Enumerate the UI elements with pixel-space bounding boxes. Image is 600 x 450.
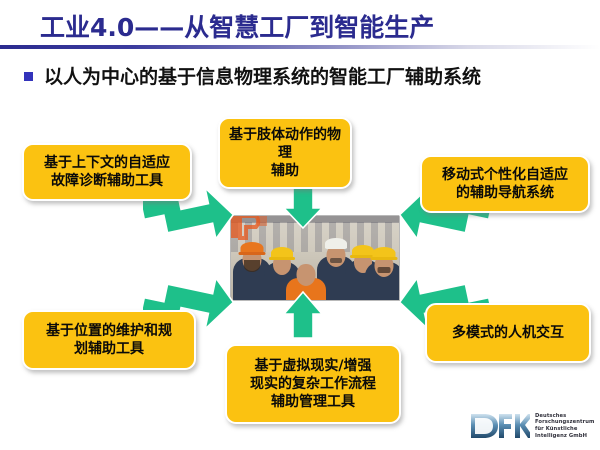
box-vr-ar-workflow-management[interactable]: 基于虚拟现实/增强 现实的复杂工作流程 辅助管理工具 [225,344,401,424]
box-nav-line-2: 的辅助导航系统 [442,184,568,202]
worker-figure [365,246,400,301]
box-location-line-1: 基于位置的维护和规 [46,322,172,340]
dfki-logo: Deutsches Forschungszentrum für Künstlic… [470,408,595,444]
box-gesture-line-2: 辅助 [226,162,344,180]
bullet-square-icon [24,72,33,81]
bullet-text: 以人为中心的基于信息物理系统的智能工厂辅助系统 [44,62,481,89]
dfki-line-1: Deutsches [535,413,595,420]
page-title: 工业4.0——从智慧工厂到智能生产 [40,8,560,44]
dfki-line-4: Intelligenz GmbH [535,433,595,440]
box-vr-line-2: 现实的复杂工作流程 [250,375,376,393]
bullet-row: 以人为中心的基于信息物理系统的智能工厂辅助系统 [24,62,594,89]
arrow-up-icon [282,290,324,340]
box-vr-line-1: 基于虚拟现实/增强 [250,357,376,375]
photo-watermark-icon [230,215,273,241]
box-vr-line-3: 辅助管理工具 [250,393,376,411]
title-divider [0,45,600,49]
dfki-wordmark-text: Deutsches Forschungszentrum für Künstlic… [535,413,595,440]
box-nav-line-1: 移动式个性化自适应 [442,166,568,184]
box-hmi-line-1: 多模式的人机交互 [452,324,564,342]
arrow-down-icon [282,184,324,230]
slide-canvas: 工业4.0——从智慧工厂到智能生产 以人为中心的基于信息物理系统的智能工厂辅助系… [0,0,600,450]
box-gesture-physical-assistance[interactable]: 基于肢体动作的物理 辅助 [218,117,352,189]
dfki-mark-icon [470,412,530,440]
box-context-adaptive-fault-diagnosis[interactable]: 基于上下文的自适应 故障诊断辅助工具 [22,143,192,201]
box-mobile-adaptive-navigation[interactable]: 移动式个性化自适应 的辅助导航系统 [420,155,590,213]
dfki-line-3: für Künstliche [535,426,595,433]
box-gesture-line-1: 基于肢体动作的物理 [226,126,344,162]
box-context-line-1: 基于上下文的自适应 [44,154,170,172]
box-context-line-2: 故障诊断辅助工具 [44,172,170,190]
box-multimodal-human-machine-interaction[interactable]: 多模式的人机交互 [425,303,591,363]
box-location-line-2: 划辅助工具 [46,340,172,358]
dfki-line-2: Forschungszentrum [535,419,595,426]
box-location-based-maintenance[interactable]: 基于位置的维护和规 划辅助工具 [22,310,196,370]
